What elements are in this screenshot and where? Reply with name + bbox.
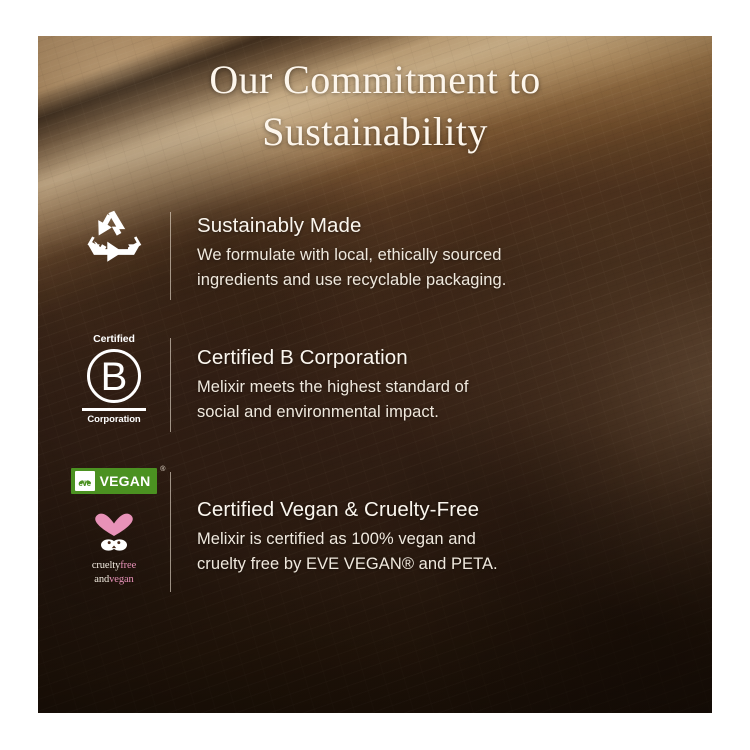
item-description-line-2: cruelty free by EVE VEGAN® and PETA. (197, 555, 498, 573)
item-title: Certified B Corporation (197, 344, 724, 372)
list-item-b-corporation: Certified B Corporation Certified B Corp… (58, 334, 724, 436)
vegan-badges: eve VEGAN ® (58, 468, 170, 586)
item-description-line-1: Melixir is certified as 100% vegan and (197, 530, 476, 548)
item-description-line-2: ingredients and use recyclable packaging… (197, 271, 506, 289)
bcorp-corporation-label: Corporation (76, 415, 152, 425)
item-description-line-1: Melixir meets the highest standard of (197, 378, 468, 396)
item-title: Sustainably Made (197, 212, 724, 240)
b-corp-circle-icon: B (86, 348, 142, 404)
eve-vegan-word: VEGAN (100, 473, 151, 489)
peta-line-1: crueltyfree (87, 559, 141, 573)
bunny-heart-icon (87, 508, 141, 556)
eve-vegan-logo-icon: eve (75, 471, 95, 491)
page-title: Our Commitment to Sustainability (0, 54, 750, 158)
peta-line-2: andvegan (87, 573, 141, 587)
page-title-line-1: Our Commitment to (0, 54, 750, 106)
eve-registered-mark: ® (160, 466, 165, 473)
item-description: Melixir meets the highest standard of so… (197, 375, 724, 425)
peta-cruelty-free-badge: crueltyfree andvegan (87, 508, 141, 586)
item-description: We formulate with local, ethically sourc… (197, 243, 724, 293)
list-item-vegan-cruelty-free: eve VEGAN ® (58, 468, 724, 596)
recycle-badge (58, 208, 170, 264)
b-corporation-badge: Certified B Corporation (58, 334, 170, 424)
recycle-icon (84, 208, 144, 264)
peta-and-word: and (94, 574, 109, 585)
eve-vegan-badge: eve VEGAN ® (71, 468, 158, 494)
eve-logo-text: eve (75, 480, 95, 488)
page-title-line-2: Sustainability (0, 106, 750, 158)
peta-free-word: free (120, 560, 136, 571)
item-description-line-1: We formulate with local, ethically sourc… (197, 246, 501, 264)
list-item-sustainably-made: Sustainably Made We formulate with local… (58, 208, 724, 304)
svg-text:B: B (101, 355, 128, 399)
bcorp-rule (82, 408, 146, 411)
sustainability-infographic: Our Commitment to Sustainability (0, 0, 750, 750)
commitment-list: Sustainably Made We formulate with local… (58, 208, 724, 622)
item-title: Certified Vegan & Cruelty-Free (197, 496, 724, 524)
bcorp-certified-label: Certified (76, 334, 152, 345)
item-description-line-2: social and environmental impact. (197, 403, 439, 421)
peta-vegan-word: vegan (109, 574, 134, 585)
item-description: Melixir is certified as 100% vegan and c… (197, 527, 724, 577)
peta-cruelty-word: cruelty (92, 560, 120, 571)
